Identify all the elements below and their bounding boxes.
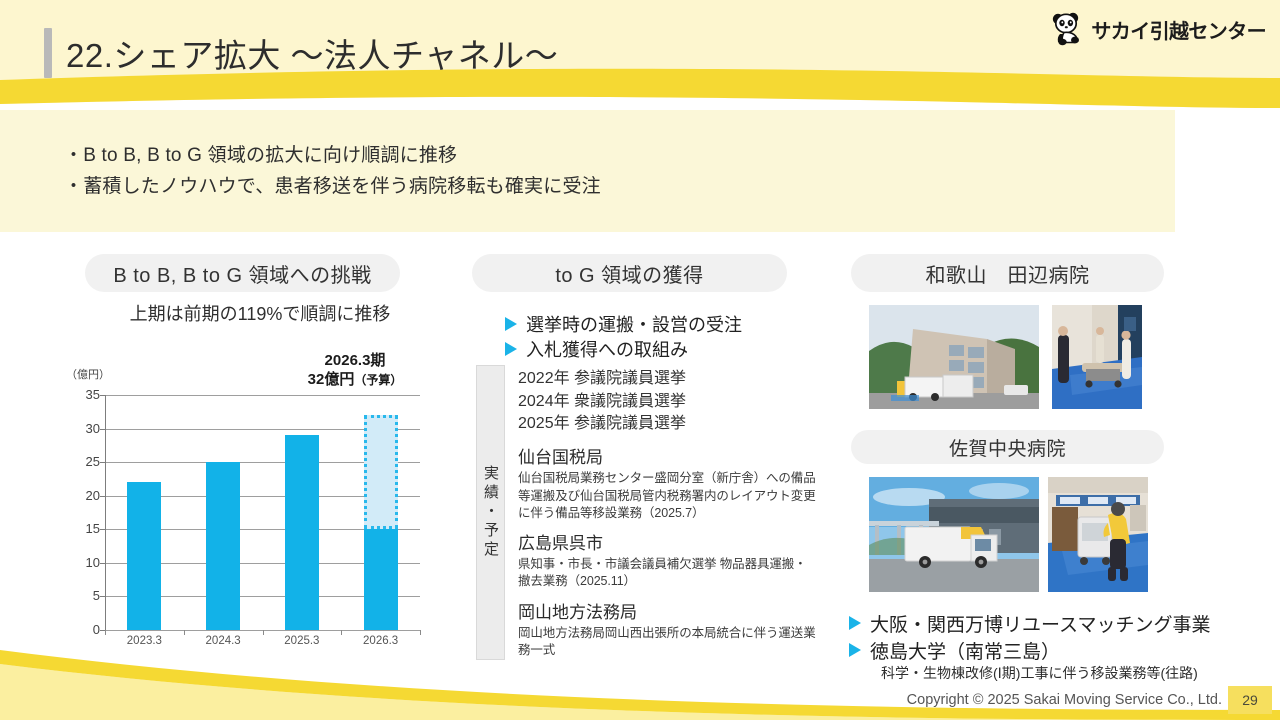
right-bullet-sub-note: 科学・生物棟改修(Ⅰ期)工事に伴う移設業務等(往路) xyxy=(881,663,1198,683)
chart-y-tick-label: 5 xyxy=(72,588,100,603)
organization-name: 岡山地方法務局 xyxy=(518,602,818,624)
chart-caption: 上期は前期の119%で順調に推移 xyxy=(60,300,460,326)
chart-y-axis-unit: （億円） xyxy=(66,366,110,382)
chart-x-tick-mark xyxy=(184,630,185,635)
chart-bar-projection-2026.3 xyxy=(364,415,398,529)
slide-canvas: 22.シェア拡大 ～法人チャネル～ サカイ引越センター ・B to B, B t… xyxy=(0,0,1280,720)
panda-mascot-icon xyxy=(1050,11,1084,47)
chart-plot-area: 051015202530352023.32024.32025.32026.3 xyxy=(105,395,420,630)
section-header-wakayama-tanabe-hospital: 和歌山 田辺病院 xyxy=(851,254,1164,292)
chart-x-tick-mark xyxy=(420,630,421,635)
copyright-text: Copyright © 2025 Sakai Moving Service Co… xyxy=(907,692,1222,708)
chart-y-tick-label: 10 xyxy=(72,555,100,570)
patient-transfer-corridor-photo xyxy=(1052,305,1142,409)
chart-x-tick-mark xyxy=(263,630,264,635)
mid-bullet-0: 選挙時の運搬・設営の受注 xyxy=(505,311,742,337)
annotation-period: 2026.3期 xyxy=(325,352,386,369)
organization-block: 広島県呉市県知事・市長・市議会議員補欠選挙 物品器具運搬・撤去業務（2025.1… xyxy=(518,533,818,591)
election-list-item: 2022年 参議院議員選挙 xyxy=(518,368,818,391)
section-header-tog: to G 領域の獲得 xyxy=(472,254,787,292)
organization-description: 仙台国税局業務センター盛岡分室（新庁舎）への備品等運搬及び仙台国税局管内税務署内… xyxy=(518,470,818,522)
section-header-saga-central-hospital: 佐賀中央病院 xyxy=(851,430,1164,464)
chart-bar-2025.3 xyxy=(285,435,319,630)
chart-y-tick-label: 25 xyxy=(72,454,100,469)
mid-bullet-0-label: 選挙時の運搬・設営の受注 xyxy=(526,311,742,337)
logo-text: サカイ引越センター xyxy=(1091,15,1266,44)
saga-hospital-exterior-truck-photo xyxy=(869,477,1039,592)
right-bullet-1-label: 徳島大学（南常三島） xyxy=(870,637,1060,664)
bar-chart: 上期は前期の119%で順調に推移 （億円） 2026.3期 32億円（予算） 0… xyxy=(60,300,460,650)
organization-description: 県知事・市長・市議会議員補欠選挙 物品器具運搬・撤去業務（2025.11） xyxy=(518,556,818,591)
chart-y-tick-label: 35 xyxy=(72,387,100,402)
triangle-bullet-icon xyxy=(505,342,517,356)
organization-block: 岡山地方法務局岡山地方法務局岡山西出張所の本局統合に伴う運送業務一式 xyxy=(518,602,818,660)
vertical-label-box: 実績・予定 xyxy=(476,365,505,660)
chart-x-tick-label: 2023.3 xyxy=(104,635,184,647)
annotation-suffix: （予算） xyxy=(354,373,402,387)
right-bullet-1: 徳島大学（南常三島） xyxy=(849,637,1060,664)
organization-description: 岡山地方法務局岡山西出張所の本局統合に伴う運送業務一式 xyxy=(518,625,818,660)
chart-y-tick-label: 20 xyxy=(72,488,100,503)
chart-gridline xyxy=(105,395,420,396)
to-g-achievements-list: 2022年 参議院議員選挙2024年 衆議院議員選挙2025年 参議院議員選挙仙… xyxy=(518,368,818,659)
chart-bar-2024.3 xyxy=(206,462,240,630)
hospital-building-with-truck-photo xyxy=(869,305,1039,409)
page-title: 22.シェア拡大 ～法人チャネル～ xyxy=(66,29,558,77)
right-bullet-0: 大阪・関西万博リユースマッチング事業 xyxy=(849,610,1210,637)
summary-line-1: ・B to B, B to G 領域の拡大に向け順調に推移 xyxy=(64,140,457,167)
title-accent-bar xyxy=(44,28,52,78)
chart-x-tick-label: 2025.3 xyxy=(262,635,342,647)
chart-y-axis xyxy=(105,395,106,630)
section-header-btob-btog: B to B, B to G 領域への挑戦 xyxy=(85,254,400,292)
organization-name: 仙台国税局 xyxy=(518,447,818,469)
organization-name: 広島県呉市 xyxy=(518,533,818,555)
chart-y-tick-label: 0 xyxy=(72,622,100,637)
summary-line-2: ・蓄積したノウハウで、患者移送を伴う病院移転も確実に受注 xyxy=(64,171,601,198)
organization-block: 仙台国税局仙台国税局業務センター盛岡分室（新庁舎）への備品等運搬及び仙台国税局管… xyxy=(518,447,818,522)
annotation-amount: 32億円 xyxy=(308,371,355,388)
triangle-bullet-icon xyxy=(505,317,517,331)
page-number-badge: 29 xyxy=(1228,686,1272,714)
chart-x-tick-label: 2024.3 xyxy=(183,635,263,647)
mid-bullet-1: 入札獲得への取組み xyxy=(505,336,688,362)
chart-bar-2023.3 xyxy=(127,482,161,630)
right-bullet-0-label: 大阪・関西万博リユースマッチング事業 xyxy=(870,610,1210,637)
chart-x-tick-label: 2026.3 xyxy=(341,635,421,647)
chart-bar-2026.3 xyxy=(364,529,398,630)
chart-y-tick-label: 15 xyxy=(72,521,100,536)
triangle-bullet-icon xyxy=(849,616,861,630)
staff-moving-medical-equipment-photo xyxy=(1048,477,1148,592)
chart-projection-annotation: 2026.3期 32億円（予算） xyxy=(255,352,455,390)
mid-bullet-1-label: 入札獲得への取組み xyxy=(526,336,688,362)
slide-header: 22.シェア拡大 ～法人チャネル～ サカイ引越センター xyxy=(0,0,1280,108)
chart-x-tick-mark xyxy=(341,630,342,635)
election-list-item: 2024年 衆議院議員選挙 xyxy=(518,391,818,414)
election-list-item: 2025年 参議院議員選挙 xyxy=(518,413,818,436)
company-logo: サカイ引越センター xyxy=(1050,11,1266,47)
vertical-label-text: 実績・予定 xyxy=(483,465,498,560)
chart-y-tick-label: 30 xyxy=(72,421,100,436)
chart-x-tick-mark xyxy=(105,630,106,635)
triangle-bullet-icon xyxy=(849,643,861,657)
